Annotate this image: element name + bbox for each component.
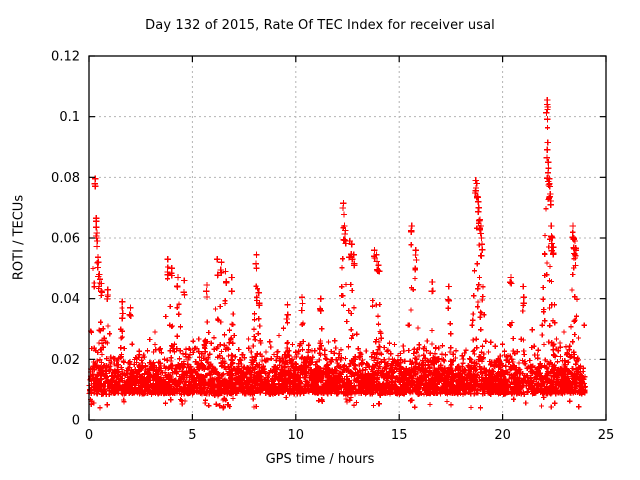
x-tick-label: 25	[598, 428, 615, 443]
x-tick-label: 5	[188, 428, 196, 443]
scatter-plot-canvas: 00.020.040.060.080.10.120510152025	[0, 0, 640, 480]
y-tick-label: 0.02	[51, 353, 80, 368]
y-tick-label: 0.06	[51, 232, 80, 247]
x-tick-label: 15	[391, 428, 408, 443]
y-tick-label: 0.08	[51, 171, 80, 186]
chart-figure: Day 132 of 2015, Rate Of TEC Index for r…	[0, 0, 640, 480]
data-points-layer	[86, 97, 588, 411]
x-tick-label: 20	[494, 428, 511, 443]
y-tick-label: 0.04	[51, 292, 80, 307]
y-tick-label: 0	[72, 414, 80, 429]
x-tick-label: 0	[85, 428, 93, 443]
y-tick-label: 0.1	[59, 110, 80, 125]
x-tick-label: 10	[288, 428, 305, 443]
y-tick-label: 0.12	[51, 50, 80, 65]
